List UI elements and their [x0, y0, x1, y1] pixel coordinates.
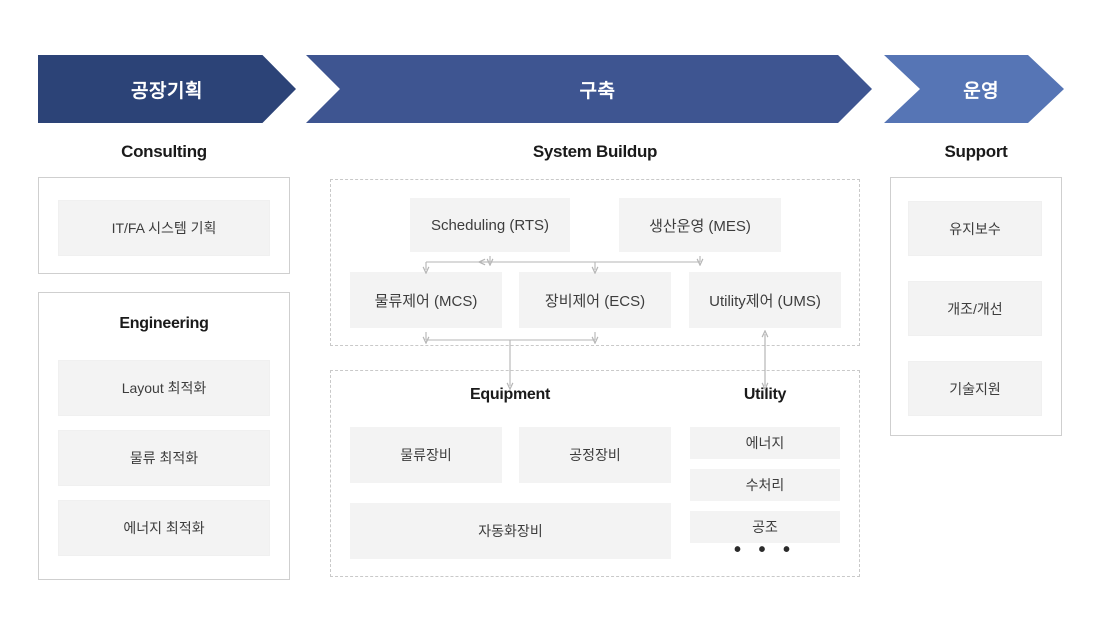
- stage-banner-build-label: 구축: [580, 76, 616, 103]
- group-title-equipment: Equipment: [350, 386, 670, 404]
- utility-box-energy[interactable]: 에너지: [690, 427, 840, 459]
- heading-consulting: Consulting: [38, 142, 290, 162]
- group-title-utility: Utility: [690, 386, 840, 404]
- chip-technical-support[interactable]: 기술지원: [908, 361, 1042, 416]
- system-box-equipment-control-ecs[interactable]: 장비제어 (ECS): [519, 272, 671, 328]
- chip-maintenance[interactable]: 유지보수: [908, 201, 1042, 256]
- equipment-box-process[interactable]: 공정장비: [519, 427, 671, 483]
- chip-layout-optimization[interactable]: Layout 최적화: [58, 360, 270, 416]
- chip-it-fa-system-planning[interactable]: IT/FA 시스템 기획: [58, 200, 270, 256]
- system-box-logistics-control-mcs[interactable]: 물류제어 (MCS): [350, 272, 502, 328]
- stage-banner-plan[interactable]: 공장기획: [38, 55, 296, 123]
- chip-energy-optimization[interactable]: 에너지 최적화: [58, 500, 270, 556]
- heading-support: Support: [890, 142, 1062, 162]
- chip-logistics-optimization[interactable]: 물류 최적화: [58, 430, 270, 486]
- heading-system-buildup: System Buildup: [330, 142, 860, 162]
- system-box-production-mes[interactable]: 생산운영 (MES): [619, 198, 781, 252]
- stage-banner-ops-label: 운영: [963, 76, 999, 103]
- system-box-utility-control-ums[interactable]: Utility제어 (UMS): [689, 272, 841, 328]
- chip-remodel-improve[interactable]: 개조/개선: [908, 281, 1042, 336]
- equipment-box-logistics[interactable]: 물류장비: [350, 427, 502, 483]
- panel-engineering-title: Engineering: [39, 315, 289, 333]
- utility-box-water-treatment[interactable]: 수처리: [690, 469, 840, 501]
- stage-banner-ops[interactable]: 운영: [884, 55, 1064, 123]
- utility-more-ellipsis: • • •: [690, 543, 840, 557]
- stage-banner-build[interactable]: 구축: [306, 55, 872, 123]
- system-box-scheduling-rts[interactable]: Scheduling (RTS): [410, 198, 570, 252]
- equipment-box-automation[interactable]: 자동화장비: [350, 503, 671, 559]
- stage-banner-plan-label: 공장기획: [131, 76, 203, 103]
